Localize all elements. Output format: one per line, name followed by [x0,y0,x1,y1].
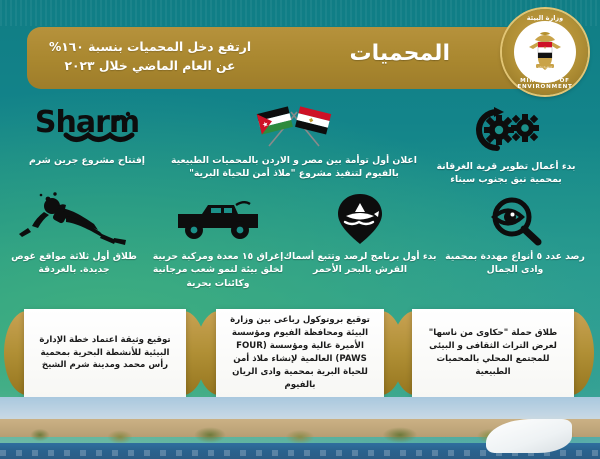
highlight-caption: بدء أعمال تطوير قرية الغرقانة بمحمية نبق… [420,160,592,187]
ribbon-panel: توقيع بروتوكول رباعى بين وزارة البيئة وم… [216,309,384,397]
ministry-logo-center: جمهورية مصر [514,21,576,83]
scuba-diver-icon [0,190,148,246]
highlight-caption: طلاق أول ثلاثة مواقع غوص جديدة. بالغردقة [0,250,148,277]
highlight-caption: اعلان أول توأمة بين مصر و الاردن بالمحمي… [170,154,418,181]
highlight-item-species-monitoring: رصد عدد ٥ أنواع مهددة بمحمية وادى الجمال [434,196,596,277]
header-statistic-line-2: عن العام الماضي خلال ٢٠٢٣ [35,57,265,76]
header-statistic: ارتفع دخل المحميات بنسبة ١٦٠% عن العام ا… [35,38,265,77]
eagle-of-saladin-icon: جمهورية مصر [525,30,565,74]
ministry-logo: وزارة البيئة MINISTRY OF ENVIRONMENT جمه… [502,9,588,95]
wetland-landscape-photo [0,397,600,459]
page-title: المحميات [349,41,450,66]
svg-text:جمهورية مصر: جمهورية مصر [537,65,553,68]
ribbon-marine-plan: توقيع وثيقة اعتماد خطة الإدارة البيئية ل… [10,309,200,397]
eye-magnifier-icon [434,196,596,246]
ribbon-text: توقيع وثيقة اعتماد خطة الإدارة البيئية ل… [33,334,177,373]
ribbon-panel: طلاق حملة "حكاوى من ناسها" لعرض التراث ا… [412,309,574,397]
ribbon-protocol: توقيع بروتوكول رباعى بين وزارة البيئة وم… [202,309,398,397]
top-stripe-decoration [0,0,600,26]
highlight-caption: بدء أول برنامج لرصد وتتبع أسماك القرش با… [280,250,440,277]
ribbon-text: طلاق حملة "حكاوى من ناسها" لعرض التراث ا… [421,327,565,379]
infographic-poster: المحميات ارتفع دخل المحميات بنسبة ١٦٠% ع… [0,0,600,459]
ribbon-text: توقيع بروتوكول رباعى بين وزارة البيئة وم… [225,314,375,391]
highlight-caption: إفتتاح مشروع جرين شرم [4,154,170,167]
jordan-egypt-flags-icon [170,100,418,150]
military-vehicle-icon [142,196,294,246]
highlight-item-dive-sites: طلاق أول ثلاثة مواقع غوص جديدة. بالغردقة [0,190,148,277]
highlight-item-shark-tracking: بدء أول برنامج لرصد وتتبع أسماك القرش با… [280,192,440,277]
shark-map-pin-icon [280,192,440,246]
header-statistic-line-1: ارتفع دخل المحميات بنسبة ١٦٠% [35,38,265,57]
highlight-item-twinning: اعلان أول توأمة بين مصر و الاردن بالمحمي… [170,100,418,181]
ribbon-panel: توقيع وثيقة اعتماد خطة الإدارة البيئية ل… [24,309,186,397]
gears-refresh-icon [420,104,592,156]
highlight-item-vehicle-sinking: إغراق ١٥ معدة ومركبة حربية لخلق بيئة لنم… [142,196,294,290]
highlight-caption: رصد عدد ٥ أنواع مهددة بمحمية وادى الجمال [434,250,596,277]
highlight-caption: إغراق ١٥ معدة ومركبة حربية لخلق بيئة لنم… [142,250,294,290]
green-sharm-logo: Sharm [4,104,170,150]
ribbon-campaign: طلاق حملة "حكاوى من ناسها" لعرض التراث ا… [398,309,588,397]
highlight-item-green-sharm: Sharm إفتتاح مشروع جرين شرم [4,104,170,167]
highlight-item-gharqana: بدء أعمال تطوير قرية الغرقانة بمحمية نبق… [420,104,592,187]
ribbon-banner-row: طلاق حملة "حكاوى من ناسها" لعرض التراث ا… [0,303,600,403]
